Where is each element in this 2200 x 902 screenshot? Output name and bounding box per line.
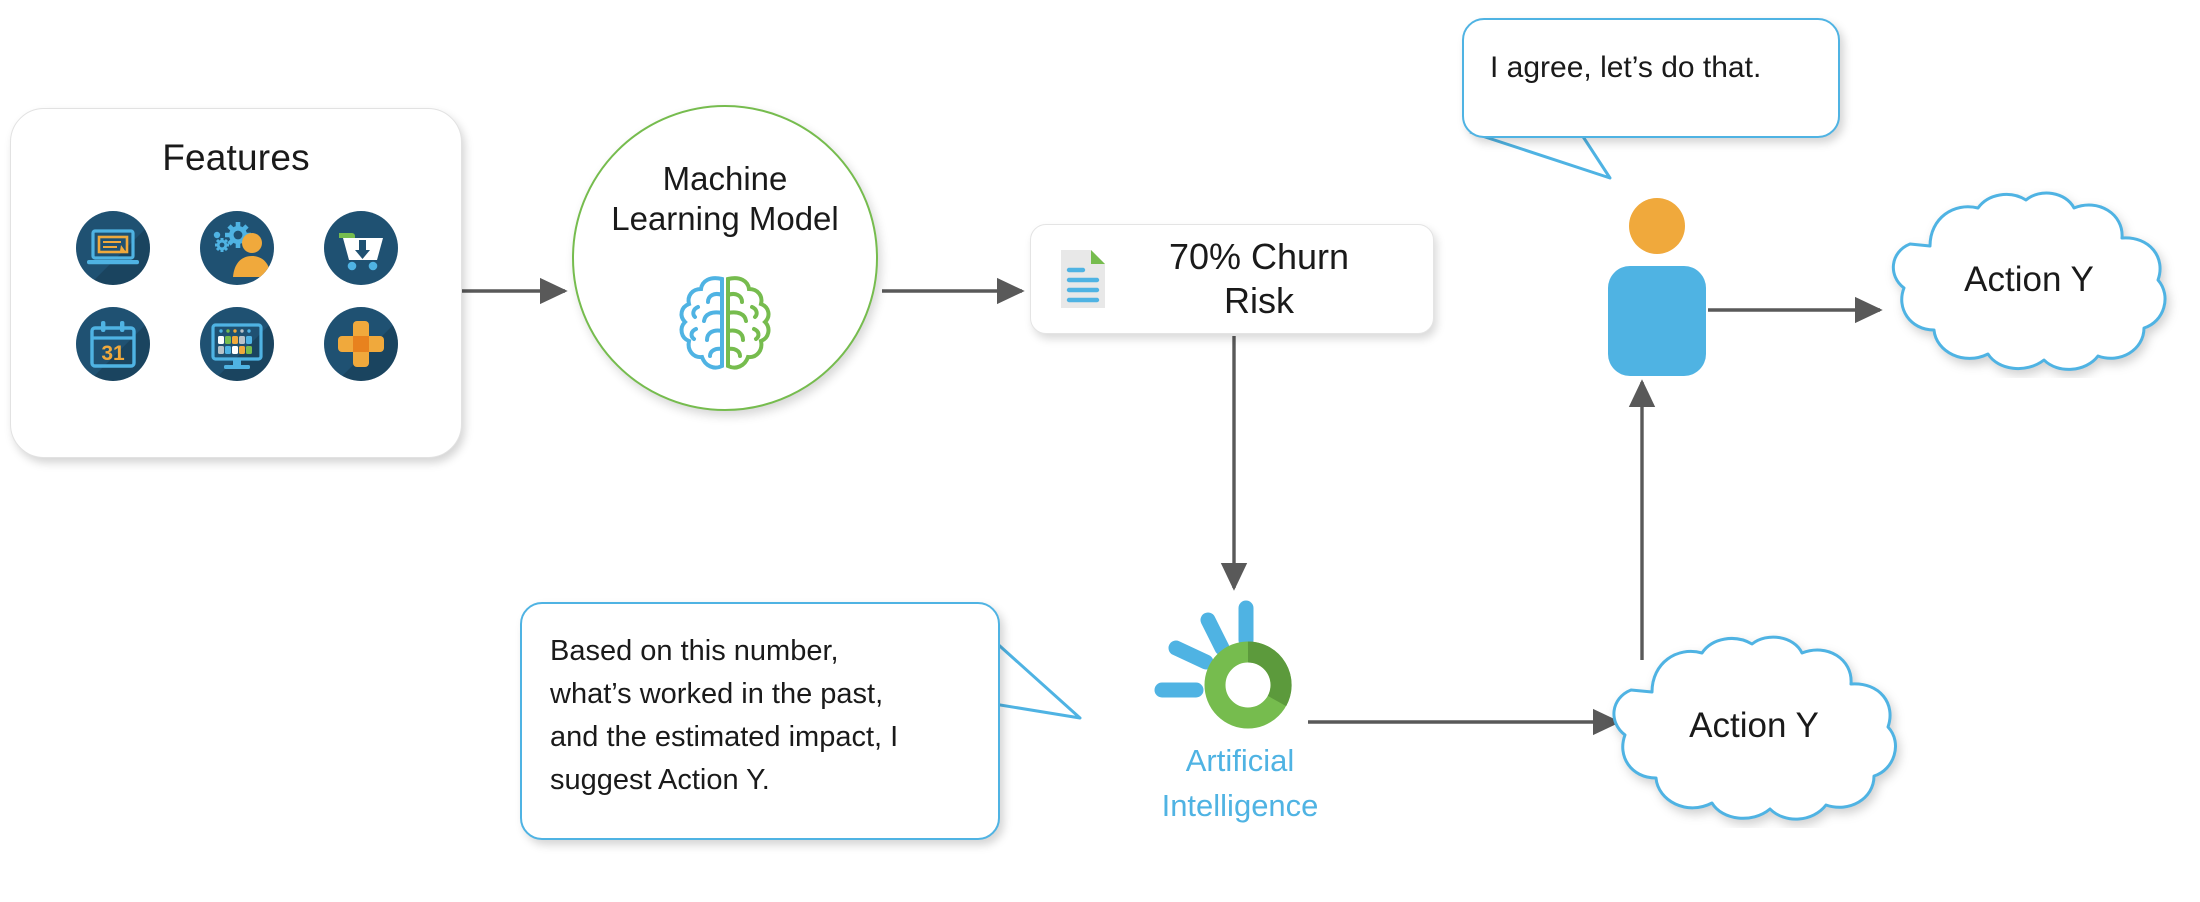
shopping-cart-download-icon (324, 211, 398, 285)
ai-speech-bubble-text: Based on this number, what’s worked in t… (550, 630, 970, 802)
gears-person-icon (200, 211, 274, 285)
ai-label-line2: Intelligence (1130, 783, 1350, 828)
ai-spark-donut-icon (1130, 600, 1350, 730)
ai-speech-bubble: Based on this number, what’s worked in t… (520, 602, 1000, 840)
churn-risk-text: 70% Churn Risk (1129, 235, 1389, 323)
cloud-top-label: Action Y (1858, 260, 2200, 300)
person-speech-bubble: I agree, let’s do that. (1462, 18, 1840, 138)
churn-risk-card: 70% Churn Risk (1030, 224, 1434, 334)
person-bubble-tail (1468, 130, 1678, 186)
features-title: Features (11, 137, 461, 179)
ml-model-label: Machine Learning Model (574, 159, 876, 239)
ml-model-label-line1: Machine (574, 159, 876, 199)
machine-learning-model-node: Machine Learning Model (572, 105, 878, 411)
person-body-icon (1608, 266, 1706, 376)
laptop-form-icon (76, 211, 150, 285)
monitor-dashboard-icon (200, 307, 274, 381)
plus-cross-icon (324, 307, 398, 381)
ai-label: Artificial Intelligence (1130, 738, 1350, 828)
brain-icon (662, 267, 788, 387)
diagram-canvas: Features (0, 0, 2200, 902)
churn-risk-line1: 70% Churn (1129, 235, 1389, 279)
features-panel: Features (10, 108, 462, 458)
cloud-action-y-top: Action Y (1858, 188, 2200, 378)
calendar-icon: 31 (76, 307, 150, 381)
churn-risk-line2: Risk (1129, 279, 1389, 323)
person-figure (1608, 198, 1706, 378)
svg-text:31: 31 (101, 342, 125, 365)
ml-model-label-line2: Learning Model (574, 199, 876, 239)
person-head-icon (1629, 198, 1685, 254)
artificial-intelligence-node: Artificial Intelligence (1130, 600, 1350, 828)
cloud-action-y-bottom: Action Y (1578, 632, 1930, 828)
cloud-bottom-label: Action Y (1578, 706, 1930, 746)
ai-label-line1: Artificial (1130, 738, 1350, 783)
person-speech-bubble-text: I agree, let’s do that. (1490, 48, 1812, 88)
document-icon (1057, 246, 1111, 312)
features-icon-grid: 31 (51, 211, 423, 381)
